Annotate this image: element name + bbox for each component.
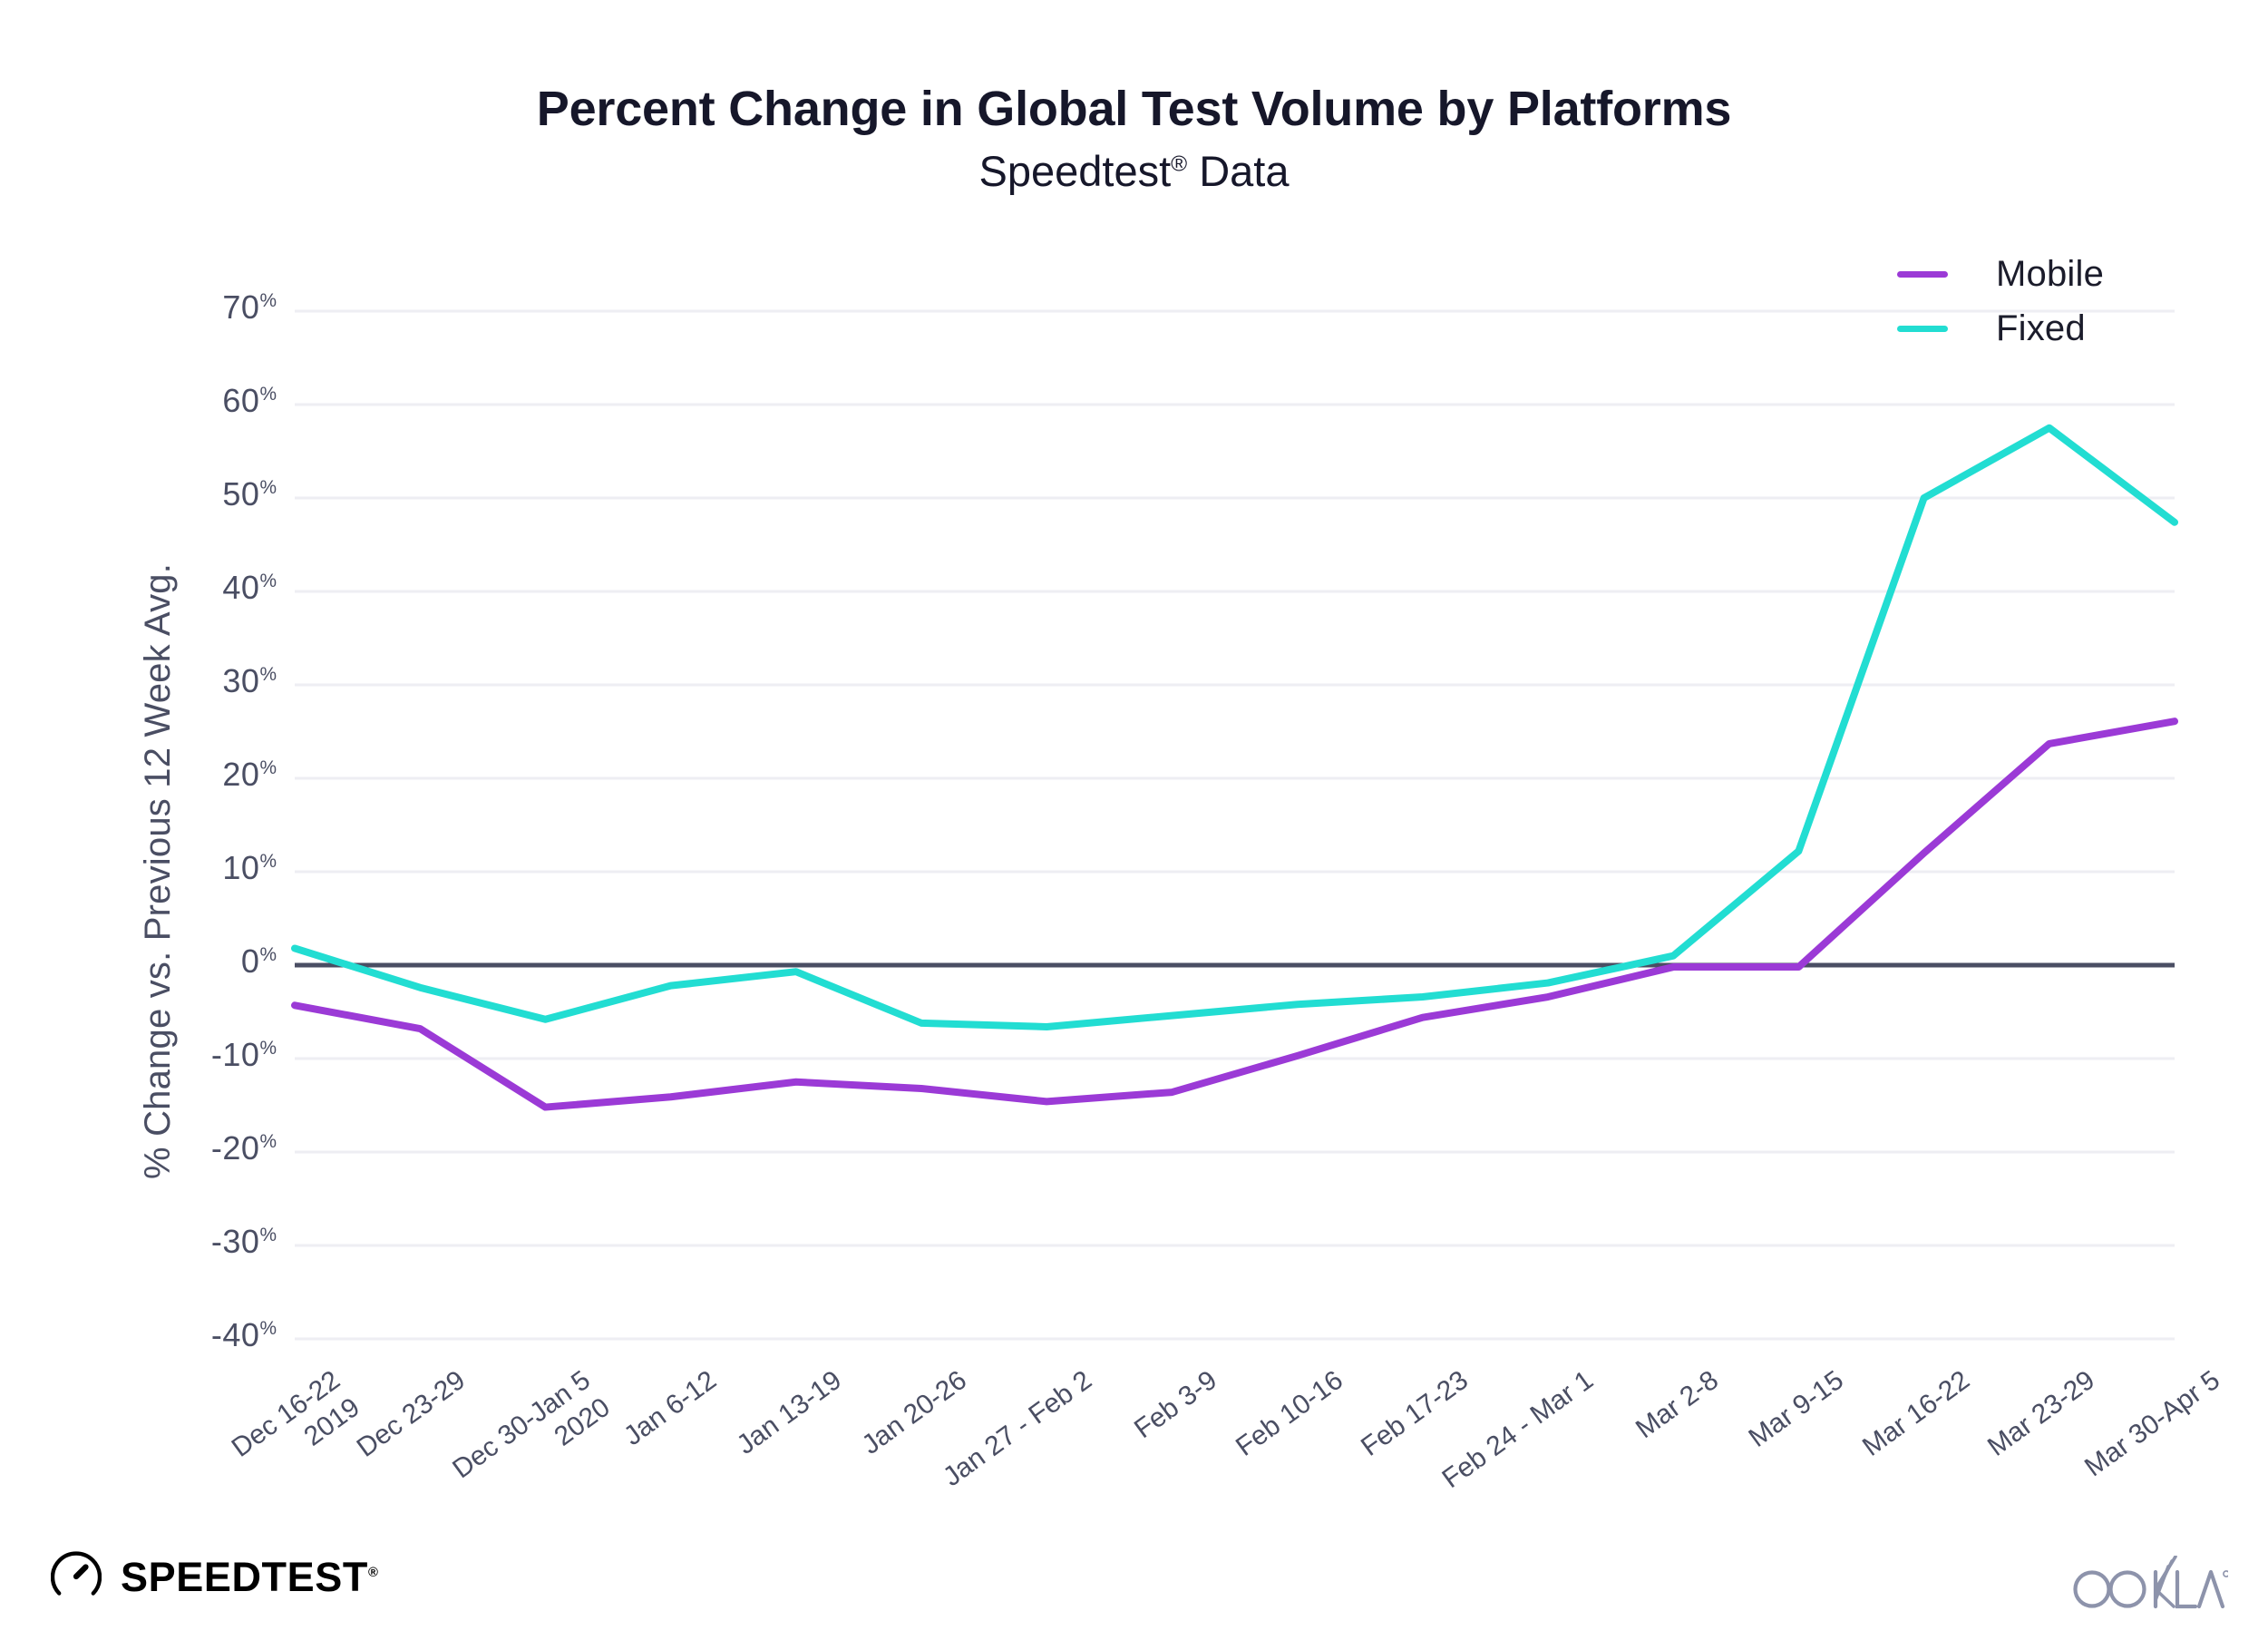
series-lines — [295, 428, 2175, 1108]
speedtest-wordmark: SPEEDTEST® — [121, 1557, 379, 1597]
x-axis-tick: Jan 27 - Feb 2 — [859, 1364, 1098, 1551]
y-axis-tick: 20% — [131, 756, 277, 794]
y-axis-tick: 60% — [131, 382, 277, 420]
x-axis-tick: Feb 10-16 — [1110, 1364, 1349, 1551]
gridlines — [295, 311, 2175, 1339]
y-axis-tick: 10% — [131, 849, 277, 887]
ookla-logo — [2072, 1556, 2228, 1616]
x-axis-tick: Mar 23-29 — [1862, 1364, 2101, 1551]
y-axis-tick: -30% — [131, 1223, 277, 1261]
x-axis-tick: Mar 30-Apr 5 — [1987, 1364, 2226, 1551]
x-axis-tick: Mar 2-8 — [1485, 1364, 1725, 1551]
y-axis-tick: 0% — [131, 942, 277, 981]
x-axis-tick: Feb 17-23 — [1235, 1364, 1475, 1551]
y-axis-tick: 70% — [131, 288, 277, 327]
speedtest-logo: SPEEDTEST® — [51, 1551, 379, 1602]
legend-label-mobile: Mobile — [1996, 254, 2104, 295]
x-axis-tick: Mar 9-15 — [1611, 1364, 1851, 1551]
y-axis-tick: -20% — [131, 1129, 277, 1167]
legend-item-mobile[interactable]: Mobile — [1897, 247, 2104, 301]
legend: Mobile Fixed — [1897, 247, 2104, 356]
y-axis-tick: 50% — [131, 475, 277, 513]
x-axis-tick: Feb 24 - Mar 1 — [1360, 1364, 1600, 1551]
series-line-mobile — [295, 721, 2175, 1107]
y-axis-tick: -40% — [131, 1316, 277, 1354]
legend-swatch-fixed — [1897, 326, 1948, 332]
chart-title: Percent Change in Global Test Volume by … — [0, 83, 2268, 135]
chart-subtitle: Speedtest® Data — [0, 148, 2268, 196]
ookla-wordmark-icon — [2072, 1556, 2228, 1612]
y-axis-tick: 30% — [131, 662, 277, 700]
registered-trademark-icon — [2224, 1571, 2228, 1577]
y-axis-tick: 40% — [131, 569, 277, 607]
speedtest-gauge-icon — [51, 1551, 102, 1602]
registered-trademark-icon: ® — [1171, 152, 1187, 177]
series-line-fixed — [295, 428, 2175, 1027]
x-axis-tick: Jan 20-26 — [734, 1364, 973, 1551]
x-axis-tick: Jan 13-19 — [608, 1364, 848, 1551]
title-block: Percent Change in Global Test Volume by … — [0, 83, 2268, 196]
y-axis-tick: -10% — [131, 1036, 277, 1074]
legend-swatch-mobile — [1897, 271, 1948, 278]
chart-subtitle-tail: Data — [1187, 147, 1289, 195]
legend-item-fixed[interactable]: Fixed — [1897, 301, 2104, 356]
legend-label-fixed: Fixed — [1996, 308, 2086, 349]
chart-subtitle-main: Speedtest — [978, 147, 1171, 195]
x-axis-tick: Feb 3-9 — [985, 1364, 1224, 1551]
registered-trademark-icon: ® — [368, 1566, 379, 1580]
x-axis-tick: Mar 16-22 — [1737, 1364, 1976, 1551]
